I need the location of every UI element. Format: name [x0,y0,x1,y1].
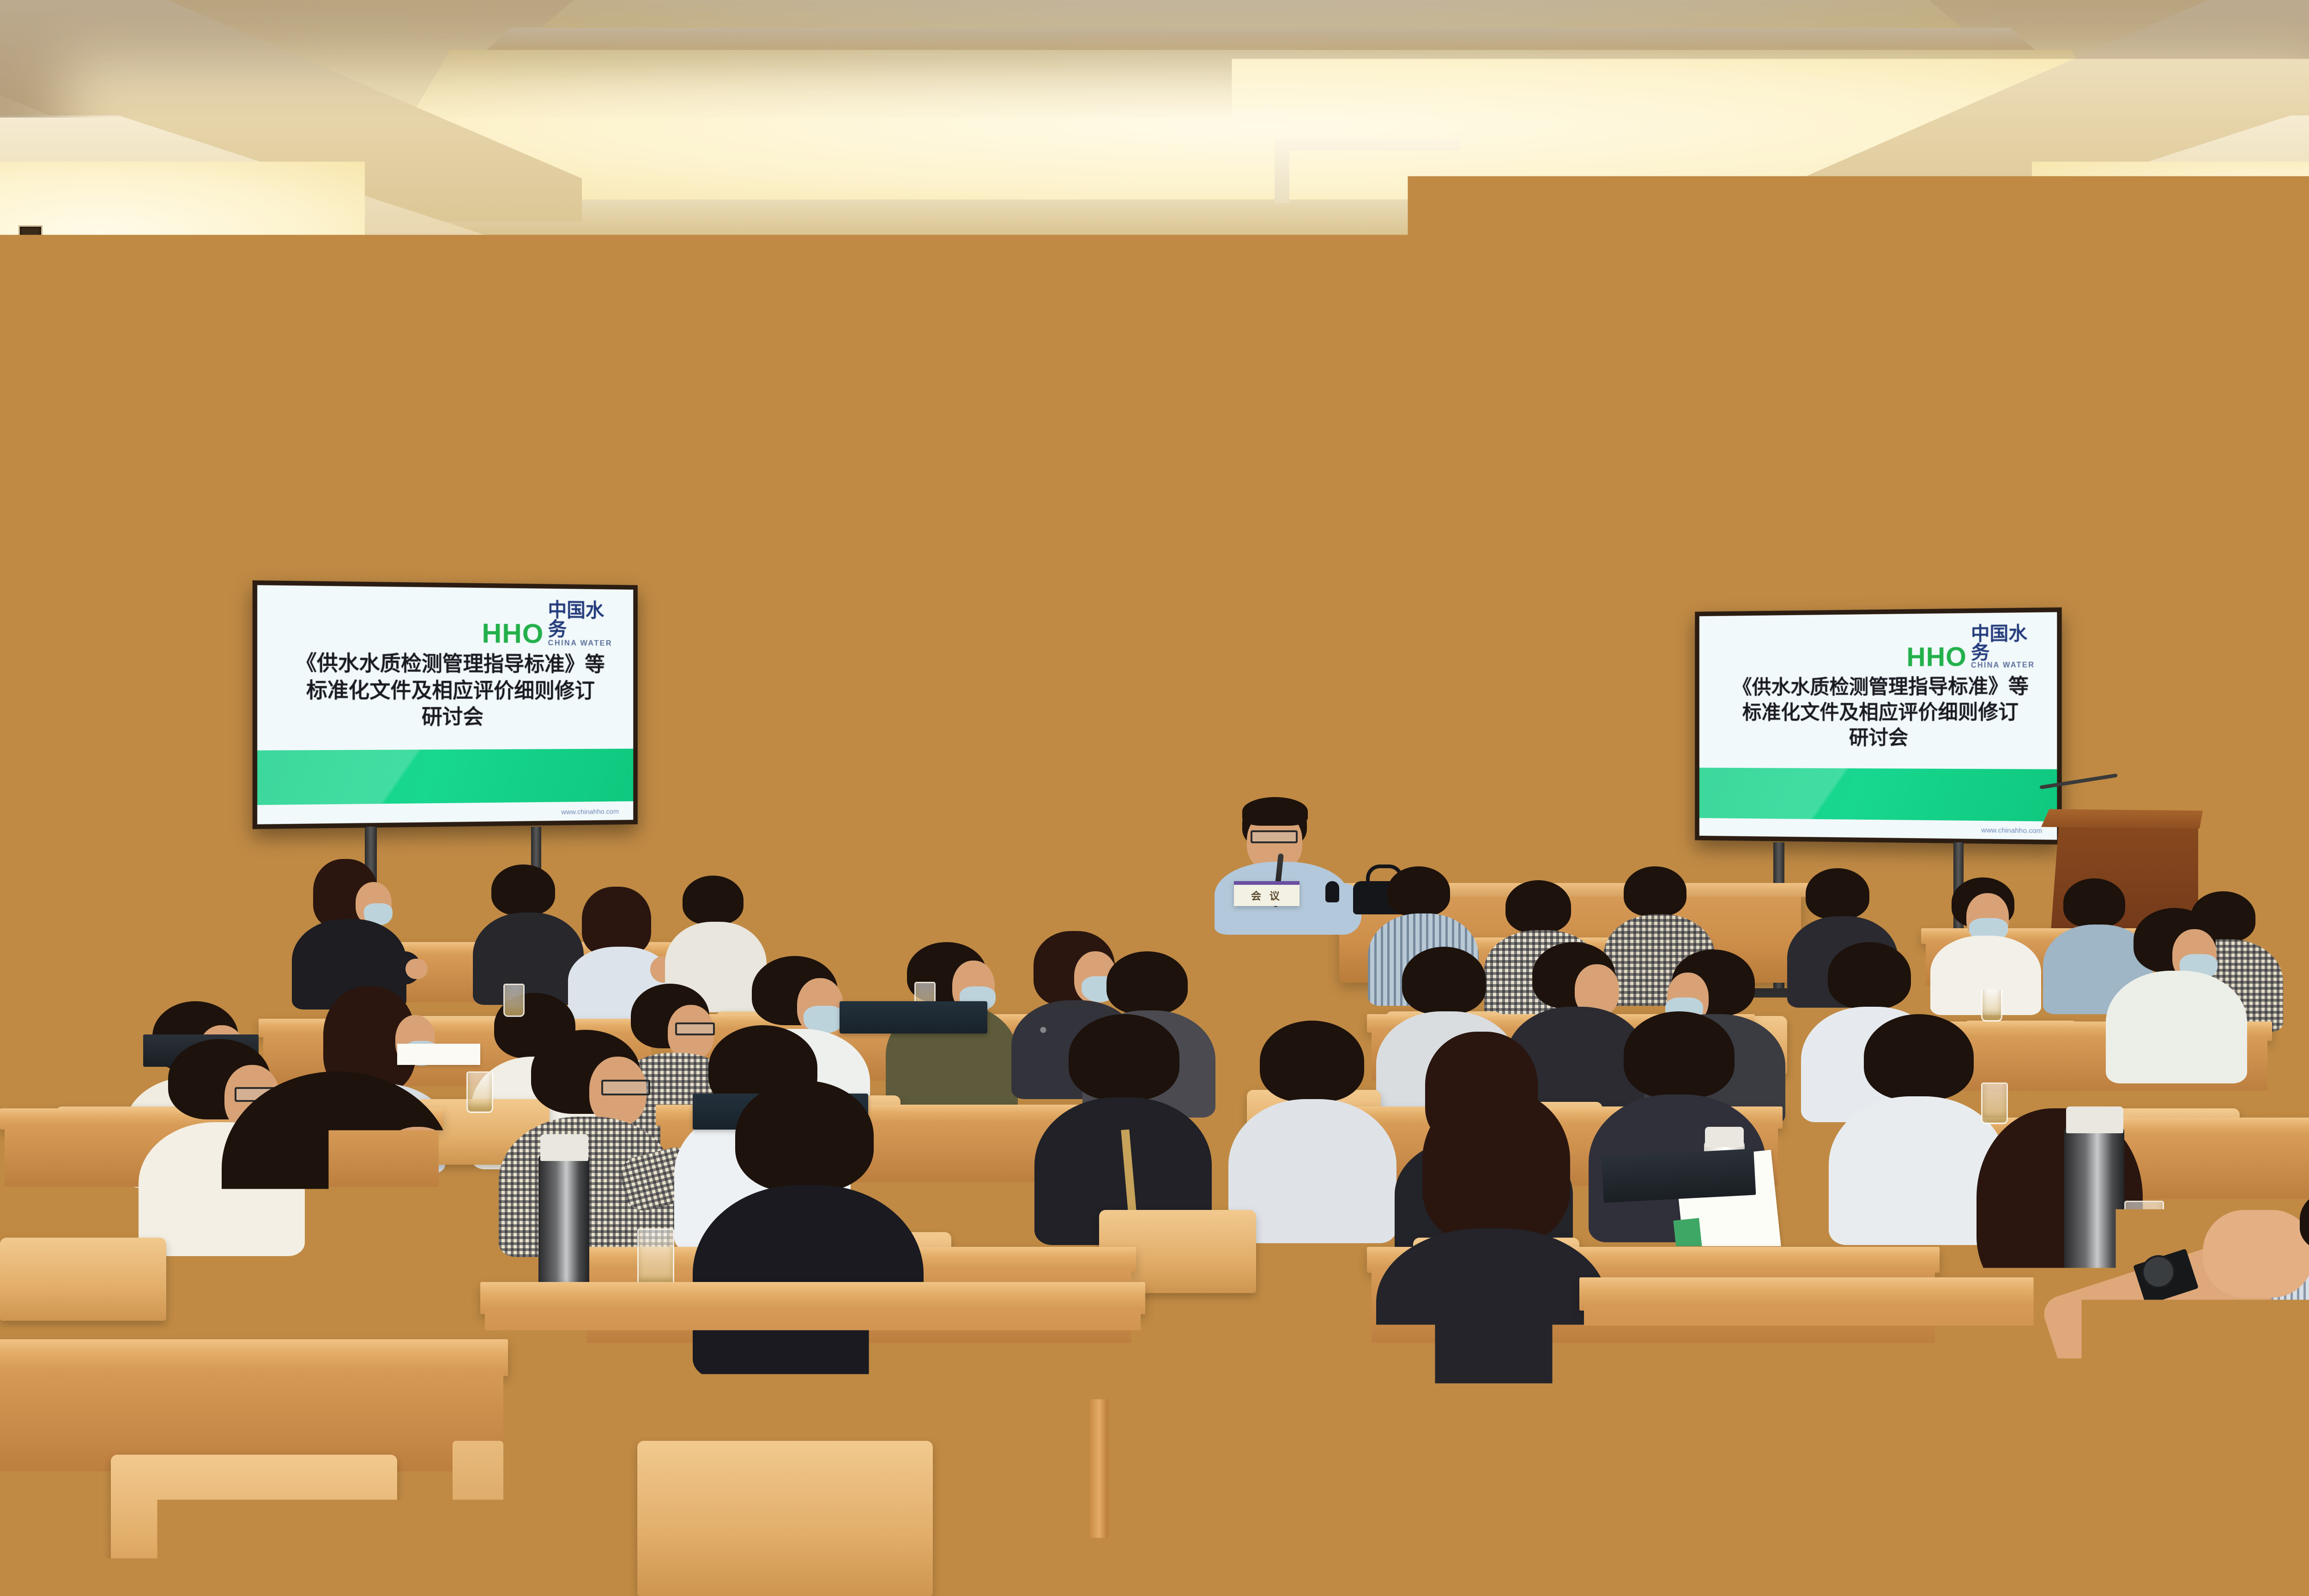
projector-vent-grille [942,362,1016,402]
laptop [1602,1149,1756,1203]
hair-fringe [904,802,965,829]
recessed-downlight [2032,500,2052,512]
speaker-podium-top [2041,809,2203,828]
glasses [63,1013,103,1026]
slide-title: 《供水水质检测管理指导标准》等 标准化文件及相应评价细则修订 研讨会 [1720,674,2042,751]
ceiling-light-panel [1579,412,2281,527]
pa-speaker-sticker [2254,781,2283,803]
hair [1106,951,1188,1014]
recessed-downlight [152,323,176,339]
attendee [1376,1090,1616,1385]
projection-screen-rail [720,545,1496,557]
left-projection-screen[interactable]: HHO 中国水务 CHINA WATER 《供水水质检测管理指导标准》等 标准化… [253,580,638,829]
attendee [286,859,411,1007]
hair [1806,868,1869,919]
chair [1579,1450,1884,1596]
recessed-downlight [529,323,553,339]
logo-cn-text: 中国水务 [1971,624,2042,662]
ceiling-light-panel [259,236,2134,375]
logo-china-water: 中国水务 CHINA WATER [548,600,619,647]
tea-glass [503,984,525,1017]
hair [1069,1014,1179,1100]
recessed-downlight [1589,332,1613,347]
slide-url: www.chinahho.com [561,808,619,816]
thermos-cap [1705,1127,1744,1147]
panelist-left [877,802,1016,922]
torso [473,913,584,1005]
folder [840,1001,987,1034]
ceiling-light-panel [0,162,365,300]
pa-speaker-stand [2241,804,2250,897]
hair [1828,942,1911,1009]
glasses [1073,846,1118,858]
tea-glass [978,874,997,903]
torso [1376,1228,1607,1389]
hair [1624,1011,1735,1098]
recessed-downlight [1226,504,1246,516]
ceiling-light-panel [536,0,1967,32]
coffered-ceiling [0,0,2309,550]
logo-cn-subtext: CHINA WATER [548,639,612,647]
hair-fringe [1242,797,1308,826]
slide-title: 《供水水质检测管理指导标准》等 标准化文件及相应评价细则修订 研讨会 [281,650,619,731]
hand [405,959,428,979]
chair [2170,1478,2309,1596]
recessed-downlight [688,503,708,515]
logo-cn-subtext: CHINA WATER [1971,662,2035,670]
logo-hho-text: HHO [1906,644,1967,670]
handbag [1325,881,1339,902]
hand [1154,892,1181,921]
hand [522,1196,582,1261]
glasses [913,832,956,844]
recessed-downlight [1219,336,1244,352]
attendee [2106,908,2254,1083]
glasses [75,894,108,905]
hand [2203,1210,2309,1298]
pa-speaker-label [2250,767,2276,777]
hair [1387,866,1450,916]
hair [582,887,651,956]
desk-leg [1090,1399,1108,1538]
hair [1624,866,1686,916]
hair [125,873,189,925]
shirt-collar [240,1239,388,1267]
hair [683,876,743,925]
recessed-downlight [769,329,793,345]
slide-surface: HHO 中国水务 CHINA WATER 《供水水质检测管理指导标准》等 标准化… [257,585,633,824]
ceiling-light-panel [868,412,1552,527]
slide-url: www.chinahho.com [1981,827,2042,835]
conference-room-photo: HHO 中国水务 CHINA WATER 《供水水质检测管理指导标准》等 标准化… [0,0,2309,1596]
ceiling-beam [1542,405,1584,529]
hair [1422,1090,1570,1242]
chair [0,1238,166,1321]
chair-arm [1856,1459,1912,1596]
slide-logo: HHO 中国水务 CHINA WATER [1906,623,2042,670]
recessed-downlight [2000,326,2024,342]
projector-mount-pole [1018,275,1039,331]
slide-logo: HHO 中国水务 CHINA WATER [482,599,618,647]
recessed-downlight [18,225,42,241]
hair [1402,947,1486,1014]
name-card: 会 议 [1234,881,1300,906]
chair [637,1441,933,1596]
ceiling-beam [831,405,873,529]
slide-green-band [1699,768,2057,822]
hair [491,864,555,915]
panelist-right [1215,797,1362,926]
paper-handout [397,1044,480,1065]
chair-arm [453,1441,503,1596]
chair [111,1455,397,1596]
logo-hho-text: HHO [482,620,544,647]
projector-vent-grille [1076,362,1114,402]
right-projection-screen[interactable]: HHO 中国水务 CHINA WATER 《供水水质检测管理指导标准》等 标准化… [1695,607,2061,845]
microphone-head [846,843,862,855]
hair [735,1081,874,1191]
slide-surface: HHO 中国水务 CHINA WATER 《供水水质检测管理指导标准》等 标准化… [1699,612,2057,840]
arm [877,879,917,930]
hair [1505,880,1571,933]
thermos-cap [2066,1106,2123,1133]
hair [1260,1021,1364,1102]
logo-china-water: 中国水务 CHINA WATER [1971,624,2042,670]
glasses [1251,830,1298,843]
logo-cn-text: 中国水务 [548,600,619,639]
slide-green-band [257,749,633,805]
